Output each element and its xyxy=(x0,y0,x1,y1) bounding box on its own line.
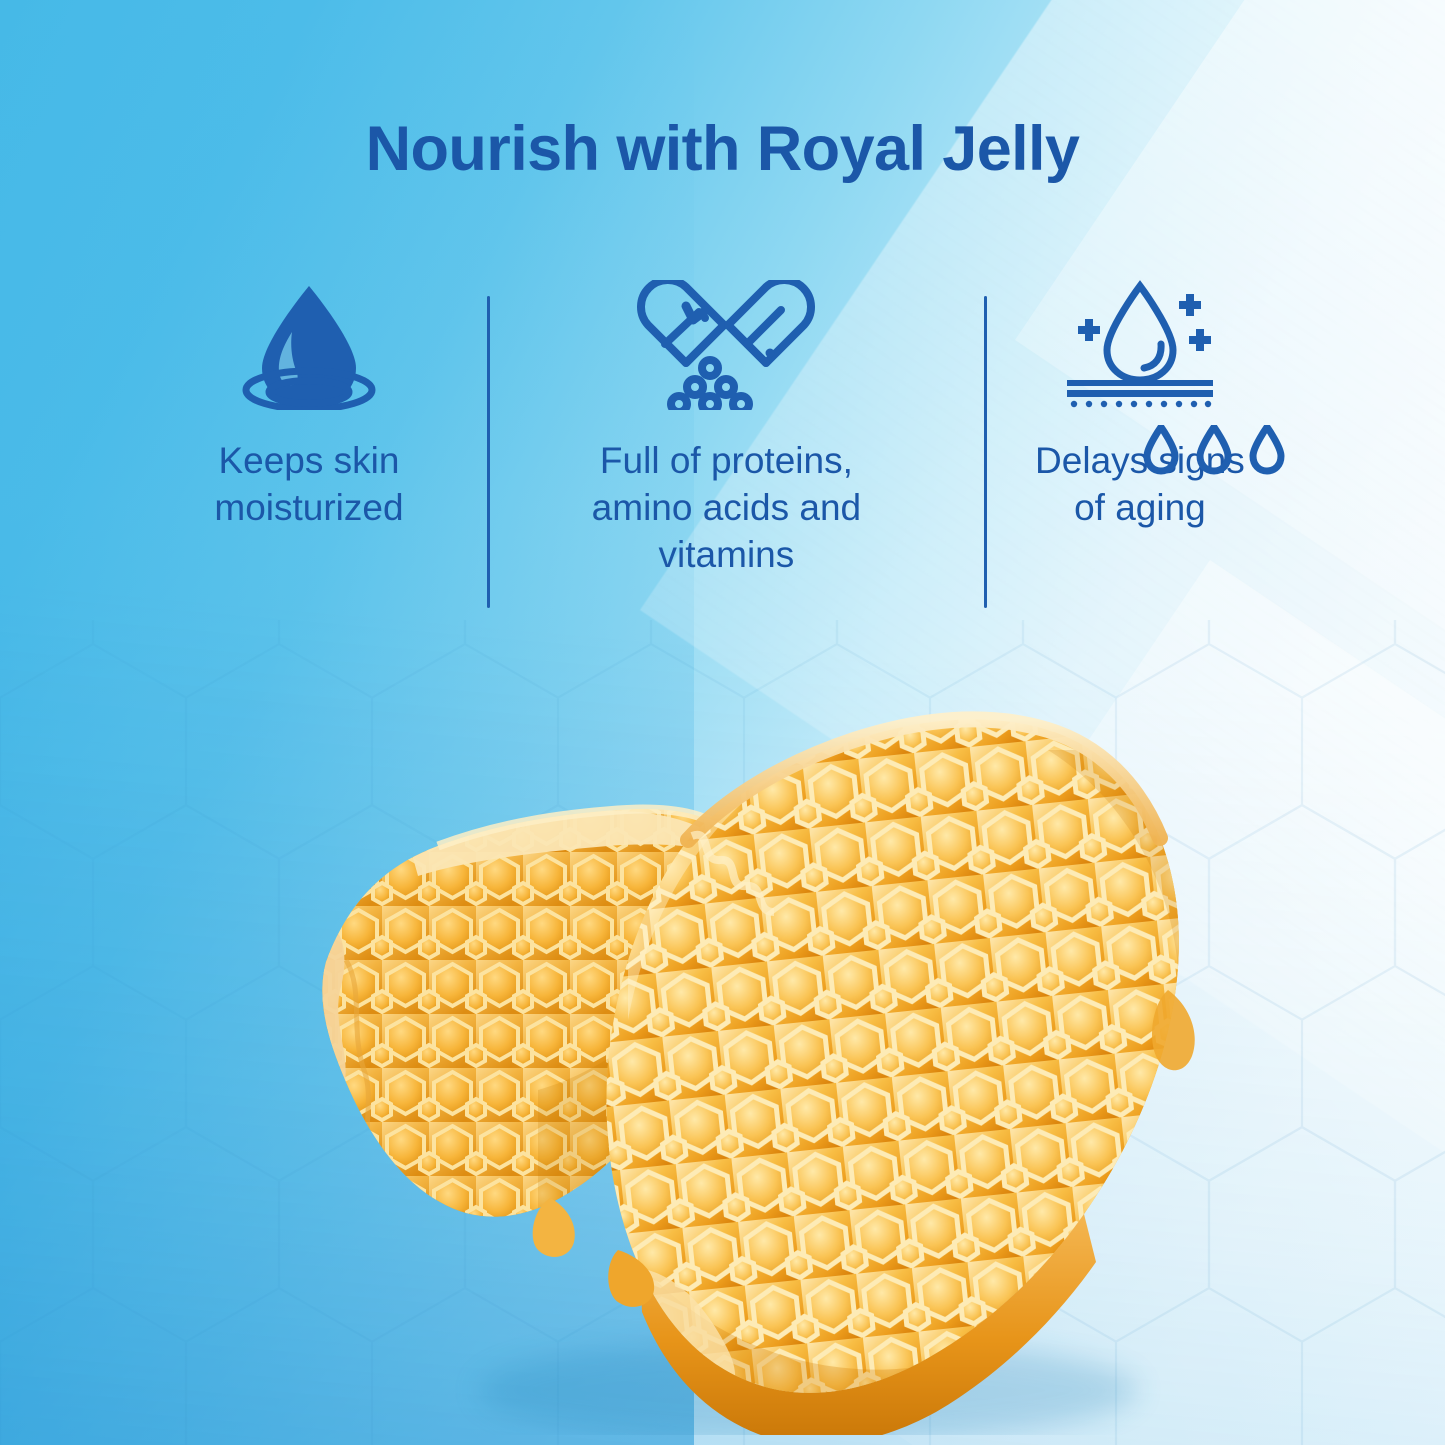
feature-label-line: amino acids and xyxy=(592,485,861,532)
feature-label-line: Full of proteins, xyxy=(592,438,861,485)
feature-item-moisturized: Keeps skin moisturized xyxy=(110,280,508,532)
open-capsule-granules-icon xyxy=(631,280,821,410)
hanging-droplets-icon xyxy=(1134,425,1294,485)
feature-label-line: Keeps skin xyxy=(214,438,403,485)
feature-label-moisturized: Keeps skin moisturized xyxy=(214,438,403,532)
feature-label-line: of aging xyxy=(1035,485,1245,532)
feature-item-anti-aging: Delays signs of aging xyxy=(945,280,1335,532)
water-drop-ripple-icon xyxy=(224,280,394,410)
feature-label-line: vitamins xyxy=(592,532,861,579)
honeycomb-photo xyxy=(288,690,1218,1435)
promo-banner: Nourish with Royal Jelly Keeps skin mois… xyxy=(0,0,1445,1445)
feature-item-nutrients: Full of proteins, amino acids and vitami… xyxy=(508,280,945,579)
feature-label-line: moisturized xyxy=(214,485,403,532)
skin-hydration-droplet-icon xyxy=(1065,280,1215,410)
feature-label-nutrients: Full of proteins, amino acids and vitami… xyxy=(592,438,861,579)
page-title: Nourish with Royal Jelly xyxy=(0,116,1445,182)
